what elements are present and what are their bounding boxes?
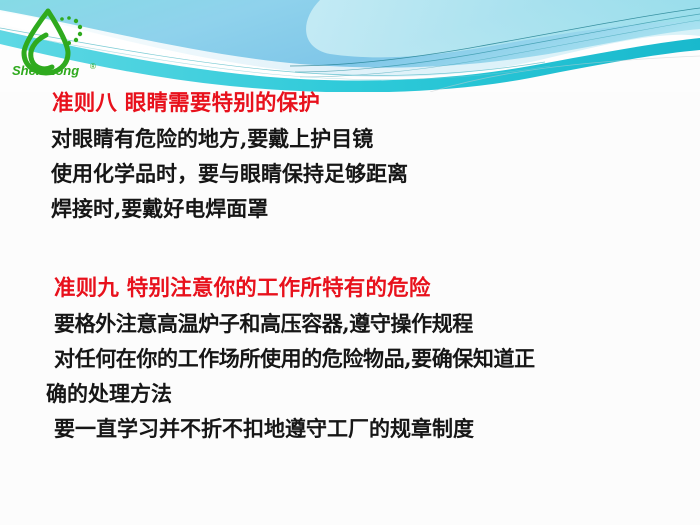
logo-graphic: Shen Long ® [8, 5, 112, 81]
section-2-line-1: 要格外注意高温炉子和高压容器,遵守操作规程 [0, 306, 700, 341]
logo-registered-mark: ® [90, 62, 96, 71]
section-1-line-3: 焊接时,要戴好电焊面罩 [0, 191, 700, 226]
section-2-line-2: 对任何在你的工作场所使用的危险物品,要确保知道正 [0, 341, 700, 376]
section-guideline-eight: 准则八 眼睛需要特别的保护 对眼睛有危险的地方,要戴上护目镜 使用化学品时，要与… [0, 84, 700, 226]
slide-content: 准则八 眼睛需要特别的保护 对眼睛有危险的地方,要戴上护目镜 使用化学品时，要与… [0, 84, 700, 446]
section-1-line-1: 对眼睛有危险的地方,要戴上护目镜 [0, 121, 700, 156]
shen-long-logo: Shen Long ® [8, 5, 112, 81]
section-2-line-3: 要一直学习并不折不扣地遵守工厂的规章制度 [0, 411, 700, 446]
section-guideline-nine: 准则九 特别注意你的工作所特有的危险 要格外注意高温炉子和高压容器,遵守操作规程… [0, 226, 700, 446]
section-1-line-2: 使用化学品时，要与眼睛保持足够距离 [0, 156, 700, 191]
logo-wordmark: Shen Long [12, 63, 79, 78]
section-2-line-2-continuation: 确的处理方法 [0, 376, 700, 411]
section-2-heading: 准则九 特别注意你的工作所特有的危险 [0, 271, 700, 306]
section-1-heading: 准则八 眼睛需要特别的保护 [0, 86, 700, 121]
slide-canvas: Shen Long ® 准则八 眼睛需要特别的保护 对眼睛有危险的地方,要戴上护… [0, 0, 700, 525]
